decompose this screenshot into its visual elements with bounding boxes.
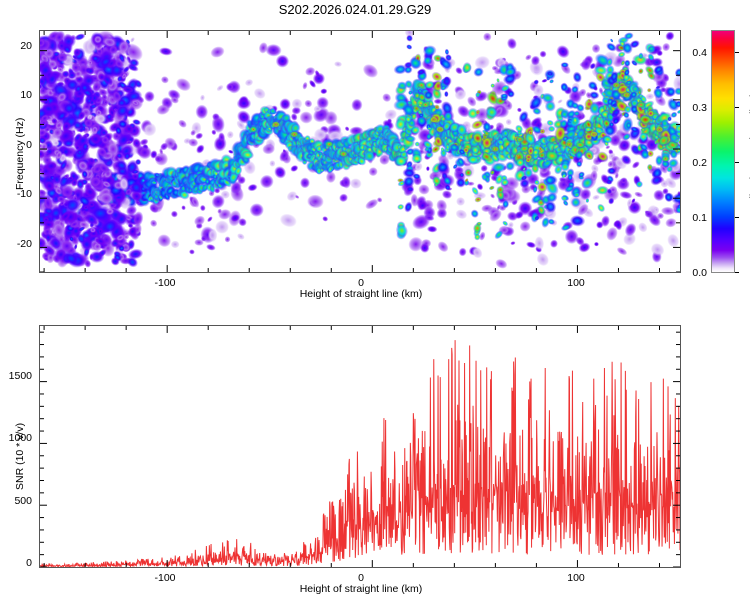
colorbar-tick-04: 0.4 — [679, 47, 707, 59]
colorbar-tick-02: 0.2 — [679, 157, 707, 169]
colorbar-tick-03: 0.3 — [679, 102, 707, 114]
spec-ytick-neg20: -20 — [2, 238, 32, 250]
colorbar — [711, 30, 735, 273]
snr-panel — [39, 325, 681, 568]
colorbar-tickmark-4 — [735, 52, 739, 53]
spectrogram-image — [40, 31, 680, 272]
snr-trace-plot — [40, 326, 680, 567]
snr-ytick-500: 500 — [2, 495, 32, 507]
spectrogram-panel — [39, 30, 681, 273]
spec-xtick-100: 100 — [551, 277, 601, 289]
colorbar-tick-00: 0.0 — [679, 267, 707, 279]
snr-xtick-100: 100 — [551, 572, 601, 584]
colorbar-tickmark-0 — [735, 272, 739, 273]
colorbar-tickmark-1 — [735, 217, 739, 218]
snr-ytick-0: 0 — [2, 557, 32, 569]
spec-xtick-neg100: -100 — [140, 277, 190, 289]
colorbar-tickmark-3 — [735, 107, 739, 108]
snr-xaxis-label: Height of straight line (km) — [250, 583, 472, 595]
snr-ytick-1500: 1500 — [2, 370, 32, 382]
colorbar-tick-01: 0.1 — [679, 212, 707, 224]
spec-ytick-20: 20 — [2, 40, 32, 52]
spec-xaxis-label: Height of straight line (km) — [250, 288, 472, 300]
spec-yaxis-label: Frequency (Hz) — [14, 118, 26, 190]
colorbar-tickmark-2 — [735, 162, 739, 163]
figure-canvas: S202.2026.024.01.29.G29 -20 -10 0 10 20 … — [0, 0, 750, 600]
figure-title: S202.2026.024.01.29.G29 — [0, 2, 710, 17]
spec-ytick-10: 10 — [2, 89, 32, 101]
snr-xtick-neg100: -100 — [140, 572, 190, 584]
colorbar-gradient — [711, 30, 735, 273]
snr-yaxis-label: SNR (10 * v/v) — [14, 423, 26, 490]
